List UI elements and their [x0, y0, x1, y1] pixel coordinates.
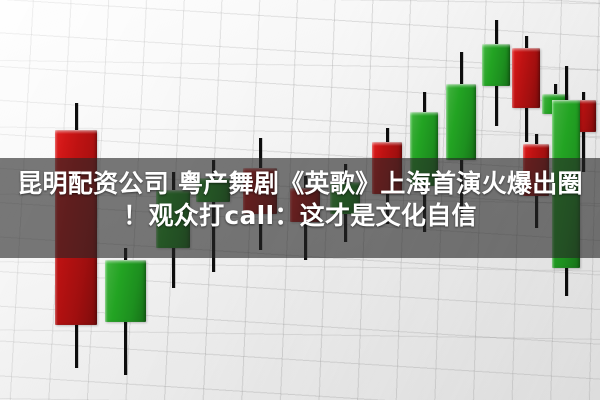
headline: 昆明配资公司 粤产舞剧《英歌》上海首演火爆出圈 ！观众打call：这才是文化自信: [0, 168, 600, 232]
candle-body-up: [482, 44, 510, 86]
banner-image: 昆明配资公司 粤产舞剧《英歌》上海首演火爆出圈 ！观众打call：这才是文化自信: [0, 0, 600, 400]
candle-body-up: [105, 260, 146, 322]
headline-line-1: 昆明配资公司 粤产舞剧《英歌》上海首演火爆出圈: [0, 168, 600, 200]
candle-body-up: [446, 84, 476, 160]
headline-line-2: ！观众打call：这才是文化自信: [0, 200, 600, 232]
